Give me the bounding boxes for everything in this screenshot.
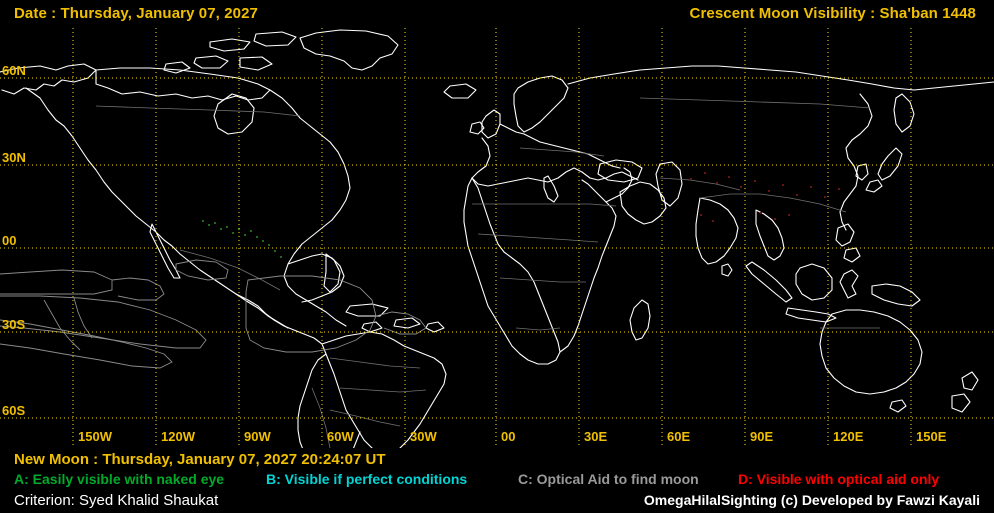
lon-label-150W: 150W xyxy=(78,430,112,443)
lat-label-60N: 60N xyxy=(2,64,26,77)
lon-label-90W: 90W xyxy=(244,430,271,443)
lon-label-60E: 60E xyxy=(667,430,690,443)
lon-label-60W: 60W xyxy=(327,430,354,443)
lon-label-30W: 30W xyxy=(410,430,437,443)
lon-label-00: 00 xyxy=(501,430,515,443)
lon-label-30E: 30E xyxy=(584,430,607,443)
legend-item-b: B: Visible if perfect conditions xyxy=(266,470,467,489)
visibility-title-label: Crescent Moon Visibility : Sha'ban 1448 xyxy=(690,5,976,22)
lon-label-120W: 120W xyxy=(161,430,195,443)
crescent-moon-visibility-map: Date : Thursday, January 07, 2027 Cresce… xyxy=(0,0,994,513)
world-map-svg xyxy=(0,28,994,448)
lon-label-120E: 120E xyxy=(833,430,863,443)
legend-item-c: C: Optical Aid to find moon xyxy=(518,470,699,489)
credit-row: Criterion: Syed Khalid Shaukat OmegaHila… xyxy=(0,490,994,511)
map-header: Date : Thursday, January 07, 2027 Cresce… xyxy=(0,0,994,28)
lon-label-150E: 150E xyxy=(916,430,946,443)
longitude-label-row: 150W 120W 90W 60W 30W 00 30E 60E 90E 120… xyxy=(0,430,994,448)
lat-label-30N: 30N xyxy=(2,151,26,164)
new-moon-label: New Moon : Thursday, January 07, 2027 20… xyxy=(14,451,386,468)
lat-label-00: 00 xyxy=(2,234,16,247)
legend-item-a: A: Easily visible with naked eye xyxy=(14,470,224,489)
legend-item-d: D: Visible with optical aid only xyxy=(738,470,939,489)
lon-label-90E: 90E xyxy=(750,430,773,443)
map-background xyxy=(0,28,994,448)
criterion-label: Criterion: Syed Khalid Shaukat xyxy=(14,490,218,511)
lat-label-60S: 60S xyxy=(2,404,25,417)
world-map-panel: 60N 30N 00 30S 60S xyxy=(0,28,994,448)
visibility-legend: A: Easily visible with naked eye B: Visi… xyxy=(0,470,994,489)
lat-label-30S: 30S xyxy=(2,318,25,331)
developer-credit-label: OmegaHilalSighting (c) Developed by Fawz… xyxy=(644,490,980,511)
map-footer: New Moon : Thursday, January 07, 2027 20… xyxy=(0,448,994,513)
date-label: Date : Thursday, January 07, 2027 xyxy=(14,5,258,22)
